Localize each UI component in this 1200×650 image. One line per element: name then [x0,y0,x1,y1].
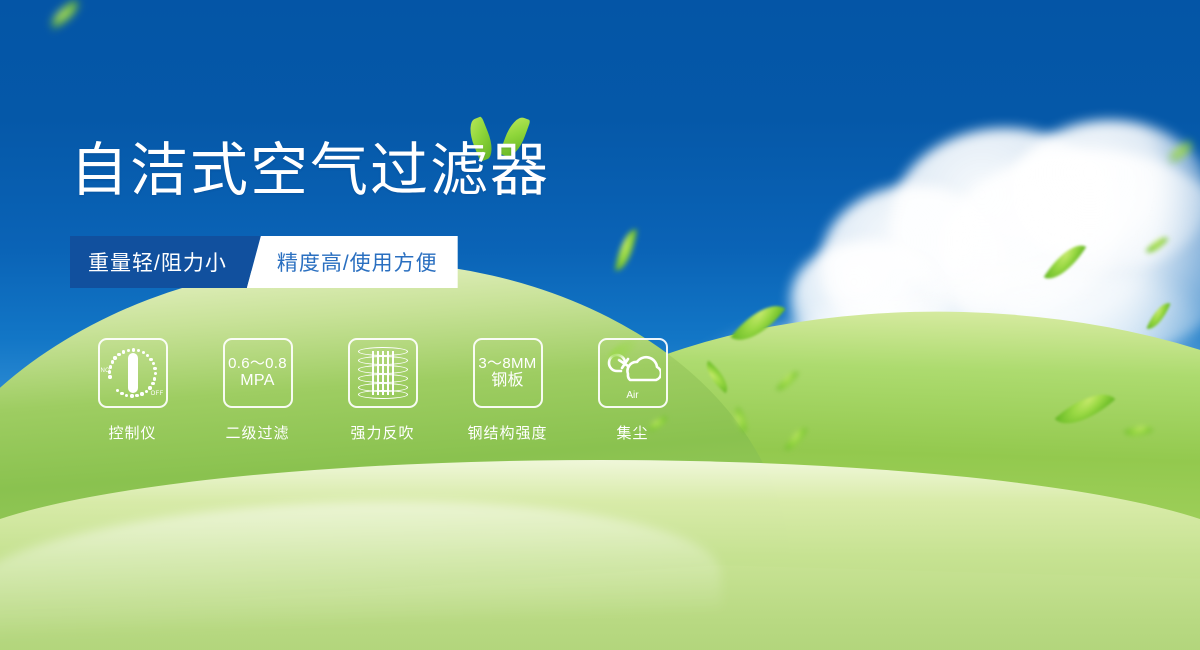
coil-ring [358,374,408,383]
gauge-tick [127,349,130,352]
feature-item-filtration[interactable]: 0.6～0.8 MPA 二级过滤 [195,338,320,443]
gauge-tick [148,386,151,389]
pressure-text-icon: 0.6～0.8 MPA [228,355,287,392]
steel-material: 钢板 [478,372,536,391]
gauge-tick [153,377,156,380]
feature-icon-box: NO OFF [98,338,168,408]
feature-label: 强力反吹 [350,422,414,443]
feature-list: NO OFF 控制仪 0.6～0.8 MPA 二级过滤 [70,338,695,443]
gauge-tick [111,360,114,363]
gauge-tick [113,356,116,359]
steel-plate-text-icon: 3～8MM 钢板 [478,355,536,392]
air-label: Air [605,390,661,401]
gauge-label-no: NO [101,368,111,374]
gauge-tick [137,349,140,352]
coil-ring [358,365,408,374]
gauge-tick [108,375,111,378]
coil-filter-icon [358,347,408,399]
feature-icon-box: 0.6～0.8 MPA [223,338,293,408]
gauge-tick [153,367,156,370]
gauge-tick [146,354,149,357]
feature-label: 控制仪 [108,422,156,443]
gauge-tick [151,382,154,385]
gauge-tick [122,350,125,353]
gauge-tick [140,392,143,395]
pressure-unit: MPA [228,372,287,391]
gauge-label-off: OFF [151,391,164,397]
feature-item-steel[interactable]: 3～8MM 钢板 钢结构强度 [445,338,570,443]
gauge-icon: NO OFF [104,344,162,402]
gauge-tick [117,353,120,356]
steel-thickness: 3～8MM [478,355,536,372]
feature-icon-box: Air [598,338,668,408]
gauge-tick [125,394,128,397]
gauge-needle [128,353,138,393]
feature-item-controller[interactable]: NO OFF 控制仪 [70,338,195,443]
page-title: 自洁式空气过滤器 [70,142,550,200]
gauge-tick [154,372,157,375]
gauge-tick [145,390,148,393]
gauge-tick [149,358,152,361]
feature-item-dust[interactable]: Air 集尘 [570,338,695,443]
feature-icon-box [348,338,418,408]
gauge-tick [135,394,138,397]
feature-label: 二级过滤 [225,422,289,443]
gauge-tick [142,351,145,354]
banner-content: 自洁式空气过滤器 重量轻/阻力小 精度高/使用方便 NO OFF 控制仪 [0,0,1200,650]
coil-ring [358,390,408,399]
coil-ring [358,356,408,365]
gauge-tick [130,394,133,397]
feature-icon-box: 3～8MM 钢板 [473,338,543,408]
banner-stage: 自洁式空气过滤器 重量轻/阻力小 精度高/使用方便 NO OFF 控制仪 [0,0,1200,650]
air-cloud-icon: Air [605,347,661,399]
feature-item-backblow[interactable]: 强力反吹 [320,338,445,443]
gauge-tick [116,389,119,392]
pressure-value: 0.6～0.8 [228,355,287,372]
tagline-badge-left: 重量轻/阻力小 [70,236,261,288]
feature-label: 集尘 [616,422,648,443]
tagline-badge: 重量轻/阻力小 精度高/使用方便 [70,236,458,288]
tagline-badge-right: 精度高/使用方便 [247,236,458,288]
gauge-tick [132,348,135,351]
coil-ring [358,347,408,356]
gauge-tick [152,362,155,365]
gauge-tick [120,392,123,395]
feature-label: 钢结构强度 [467,422,547,443]
